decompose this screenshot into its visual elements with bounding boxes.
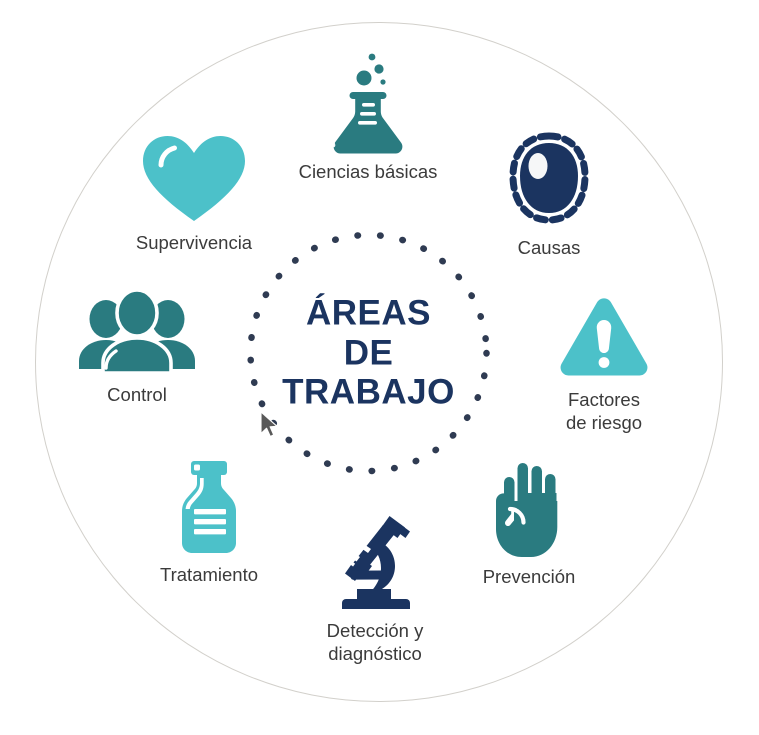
medicine-bottle-icon [169,459,249,557]
node-label-factores-de-riesgo: Factores de riesgo [566,389,642,434]
node-label-prevencion: Prevención [483,566,576,589]
node-label-ciencias-basicas: Ciencias básicas [299,161,438,184]
node-supervivencia[interactable]: Supervivencia [109,133,279,255]
hand-stop-icon [486,461,572,559]
node-label-tratamiento: Tratamiento [160,564,258,587]
heart-icon [139,133,249,225]
node-label-deteccion-y-diagnostico: Detección y diagnóstico [327,620,424,665]
flask-icon [320,50,416,154]
warning-triangle-icon [556,294,652,382]
node-ciencias-basicas[interactable]: Ciencias básicas [283,50,453,184]
node-label-control: Control [107,384,167,407]
cell-icon [497,126,601,230]
center-title-line-2: DE [241,333,496,373]
node-label-supervivencia: Supervivencia [136,232,252,255]
node-causas[interactable]: Causas [464,126,634,260]
node-control[interactable]: Control [52,291,222,407]
node-deteccion-y-diagnostico[interactable]: Detección y diagnóstico [290,513,460,665]
center-title-line-3: TRABAJO [241,373,496,413]
node-prevencion[interactable]: Prevención [444,461,614,589]
center-hub: ÁREAS DE TRABAJO [241,227,496,479]
infographic-canvas: ÁREAS DE TRABAJO [0,0,759,735]
center-title: ÁREAS DE TRABAJO [241,294,496,413]
people-group-icon [75,291,199,377]
microscope-icon [327,513,423,613]
node-label-causas: Causas [518,237,581,260]
node-factores-de-riesgo[interactable]: Factores de riesgo [519,294,689,434]
center-title-line-1: ÁREAS [241,294,496,334]
node-tratamiento[interactable]: Tratamiento [124,459,294,587]
